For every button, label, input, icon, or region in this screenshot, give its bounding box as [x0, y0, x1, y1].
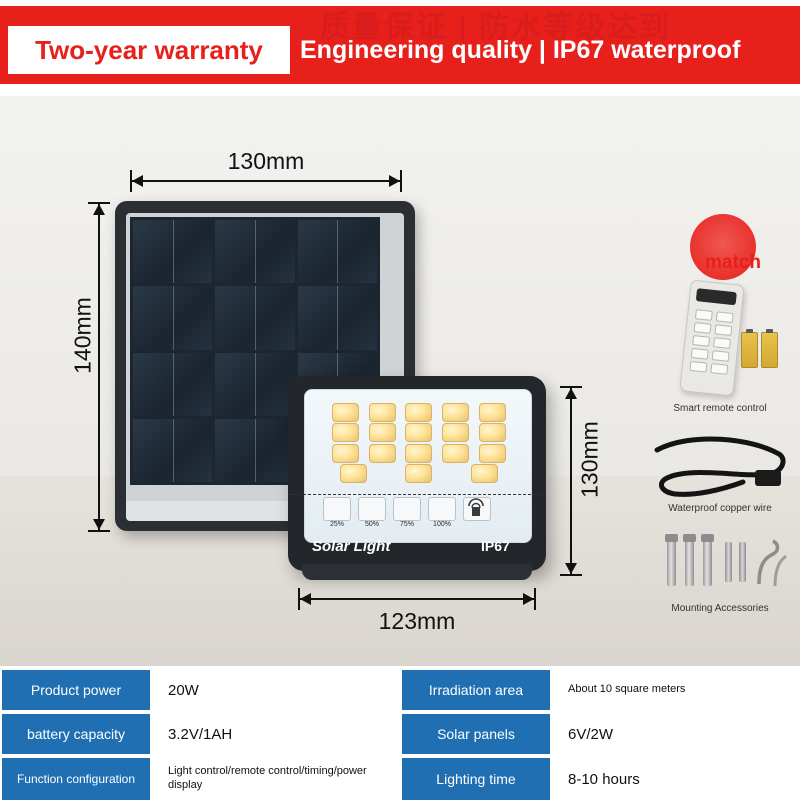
battery-aaa [741, 332, 758, 368]
dimension-light-height-label: 130mm [577, 420, 604, 500]
dimension-arrow-down [93, 519, 105, 530]
solar-cell [133, 220, 212, 283]
indicator-100: 100% [428, 497, 456, 521]
spec-value-lighting-time: 8-10 hours [552, 756, 800, 800]
led-chip [405, 423, 432, 442]
dimension-light-width-label: 123mm [298, 608, 536, 635]
dimension-cap-bottom [560, 574, 582, 576]
led-chip [405, 403, 432, 422]
remote-key [713, 337, 731, 349]
dimension-light-width: 123mm [298, 592, 536, 638]
remote-key [691, 348, 709, 360]
table-row: battery capacity 3.2V/1AH Solar panels 6… [0, 712, 800, 756]
led-chip [405, 444, 432, 463]
dimension-light-height: 130mm [560, 386, 608, 576]
dimension-line [130, 180, 402, 182]
led-chip [471, 464, 498, 483]
solar-cell [133, 286, 212, 349]
indicator-50-label: 50% [357, 521, 387, 528]
screw-head [701, 534, 714, 542]
screws-caption: Mounting Accessories [645, 602, 795, 616]
dimension-arrow-down [565, 563, 577, 574]
remote-key [692, 335, 710, 347]
indicator-25-label: 25% [322, 521, 352, 528]
dimension-line [298, 598, 536, 600]
solar-cell [133, 419, 212, 482]
led-chip [442, 423, 469, 442]
spec-label-lighting-time: Lighting time [400, 756, 552, 800]
screw [685, 540, 694, 586]
spec-label-battery-capacity: battery capacity [0, 712, 152, 756]
battery-aaa [761, 332, 778, 368]
product-infographic: 顶灯两年 质量保证 | 防水等级达到 Two-year warranty Eng… [0, 0, 800, 800]
dimension-panel-width-label: 130mm [130, 148, 402, 175]
brand-label: Solar Light [312, 538, 390, 555]
remote-key [712, 350, 730, 362]
ip-rating-label: IP67 [481, 538, 510, 554]
flood-light: 25% 50% 75% 100% [288, 376, 546, 591]
mounting-accessories [665, 532, 785, 594]
solar-cell [215, 419, 294, 482]
led-chip [332, 423, 359, 442]
dimension-arrow-left [300, 593, 311, 605]
product-photo-area: 130mm 140mm [0, 96, 800, 666]
led-chip [479, 403, 506, 422]
flood-light-bracket [302, 564, 532, 580]
remote-key [716, 311, 734, 323]
centerline-dashed [288, 494, 546, 495]
dimension-panel-height: 140mm [60, 202, 108, 532]
led-chip [369, 423, 396, 442]
dimension-arrow-right [389, 175, 400, 187]
dimension-line [570, 386, 572, 576]
remote-caption: Smart remote control [645, 402, 795, 416]
led-chip [442, 403, 469, 422]
solar-cell [215, 220, 294, 283]
match-label: match [673, 252, 793, 274]
solar-cell [215, 353, 294, 416]
dimension-cap-right [534, 588, 536, 610]
dimension-panel-width: 130mm [130, 154, 402, 194]
wire-connector [755, 470, 781, 486]
dimension-arrow-left [132, 175, 143, 187]
flood-light-body: 25% 50% 75% 100% [288, 376, 546, 571]
solar-cell [298, 220, 377, 283]
dimension-panel-height-label: 140mm [70, 291, 97, 381]
wall-anchor [739, 542, 746, 582]
indicator-75: 75% [393, 497, 421, 521]
spec-value-function-configuration: Light control/remote control/timing/powe… [152, 756, 400, 800]
warranty-pill-text: Two-year warranty [35, 35, 263, 66]
battery-cap [766, 329, 773, 333]
led-chip [332, 403, 359, 422]
dimension-cap-right [400, 170, 402, 192]
table-row: Product power 20W Irradiation area About… [0, 668, 800, 712]
remote-key [714, 324, 732, 336]
dimension-arrow-up [565, 388, 577, 399]
spec-value-battery-capacity: 3.2V/1AH [152, 712, 400, 756]
dimension-cap-bottom [88, 530, 110, 532]
spec-value-solar-panels: 6V/2W [552, 712, 800, 756]
led-chip [369, 444, 396, 463]
spec-label-irradiation-area: Irradiation area [400, 668, 552, 712]
led-row-bottom [327, 464, 511, 485]
waterproof-copper-wire [651, 432, 791, 502]
wire-caption: Waterproof copper wire [645, 502, 795, 516]
led-chip [369, 403, 396, 422]
battery-cap [746, 329, 753, 333]
spec-label-function-configuration: Function configuration [0, 756, 152, 800]
remote-key [710, 363, 728, 375]
led-chip [479, 423, 506, 442]
remote-signal-icon [463, 497, 491, 521]
remote-key [694, 322, 712, 334]
remote-ir-window [696, 288, 737, 305]
remote-key [689, 361, 707, 373]
screw [667, 540, 676, 586]
power-indicator-row: 25% 50% 75% 100% [323, 494, 515, 524]
banner-headline: Engineering quality | IP67 waterproof [300, 26, 740, 74]
led-chip [479, 444, 506, 463]
spec-label-product-power: Product power [0, 668, 152, 712]
indicator-50: 50% [358, 497, 386, 521]
led-chip [332, 444, 359, 463]
spec-value-product-power: 20W [152, 668, 400, 712]
indicator-100-label: 100% [427, 521, 457, 528]
led-chip [405, 464, 432, 483]
wall-anchor [725, 542, 732, 582]
spec-value-irradiation-area: About 10 square meters [552, 668, 800, 712]
solar-cell [298, 286, 377, 349]
dimension-arrow-right [523, 593, 534, 605]
led-array [327, 402, 511, 484]
dimension-line [98, 202, 100, 532]
remote-key [695, 309, 713, 321]
screw-head [683, 534, 696, 542]
solar-cell [133, 353, 212, 416]
indicator-25: 25% [323, 497, 351, 521]
led-chip [442, 444, 469, 463]
led-chip [340, 464, 367, 483]
solar-cell [215, 286, 294, 349]
indicator-75-label: 75% [392, 521, 422, 528]
table-row: Function configuration Light control/rem… [0, 756, 800, 800]
screw-head [665, 534, 678, 542]
dimension-arrow-up [93, 204, 105, 215]
smart-remote [679, 279, 744, 396]
flood-light-glass: 25% 50% 75% 100% [304, 389, 532, 543]
spec-label-solar-panels: Solar panels [400, 712, 552, 756]
top-banner: 顶灯两年 质量保证 | 防水等级达到 Two-year warranty Eng… [0, 0, 800, 96]
screw [703, 540, 712, 586]
spec-table: Product power 20W Irradiation area About… [0, 666, 800, 800]
warranty-pill: Two-year warranty [8, 26, 290, 74]
